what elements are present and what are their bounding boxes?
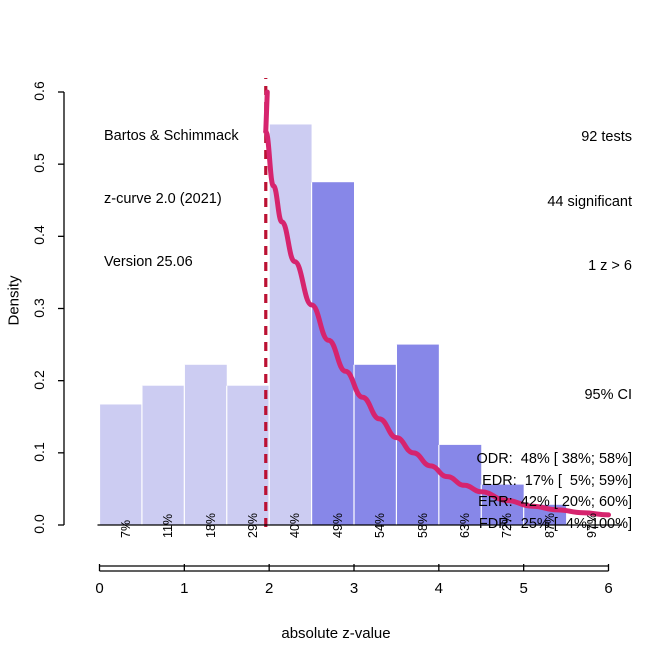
ci-header: 95% CI	[476, 385, 632, 407]
total-tests: 92 tests	[476, 127, 632, 149]
histogram-bar	[142, 386, 184, 525]
y-tick-label: 0.6	[31, 76, 47, 106]
percent-tick-label: 29%	[246, 513, 260, 538]
percent-tick-label: 18%	[204, 513, 218, 538]
y-tick-label: 0.4	[31, 220, 47, 250]
histogram-bar	[100, 404, 142, 525]
y-tick-label: 0.5	[31, 148, 47, 178]
y-tick-label: 0.1	[31, 437, 47, 467]
ci-row: ERR: 42% [ 20%; 60%]	[476, 492, 632, 514]
ci-row: EDR: 17% [ 5%; 59%]	[476, 471, 632, 493]
statistics-block: 92 tests 44 significant 1 z > 6 95% CI O…	[476, 84, 632, 578]
annotation-line-3: Version 25.06	[104, 252, 239, 273]
histogram-bar	[312, 182, 354, 525]
histogram-bar	[184, 365, 226, 525]
histogram-bar	[227, 386, 269, 525]
percent-tick-label: 7%	[119, 520, 133, 538]
x-tick-label: 1	[169, 580, 199, 597]
y-tick-label: 0.3	[31, 293, 47, 323]
x-tick-label: 5	[509, 580, 539, 597]
curve-upper-stub	[266, 92, 268, 132]
histogram-bar	[396, 345, 438, 525]
x-tick-label: 4	[424, 580, 454, 597]
y-tick-label: 0.0	[31, 509, 47, 539]
stats-spacer	[476, 321, 632, 342]
percent-tick-label: 87%	[543, 513, 557, 538]
method-annotation: Bartos & Schimmack z-curve 2.0 (2021) Ve…	[104, 84, 239, 315]
percent-tick-label: 49%	[331, 513, 345, 538]
y-axis-title: Density	[6, 261, 23, 341]
histogram-bar	[354, 365, 396, 525]
annotation-line-2: z-curve 2.0 (2021)	[104, 189, 239, 210]
percent-tick-label: 97%	[585, 513, 599, 538]
x-tick-label: 0	[85, 580, 115, 597]
percent-tick-label: 58%	[416, 513, 430, 538]
extreme-z-count: 1 z > 6	[476, 256, 632, 278]
y-tick-label: 0.2	[31, 365, 47, 395]
zcurve-plot: Bartos & Schimmack z-curve 2.0 (2021) Ve…	[0, 0, 672, 671]
x-tick-label: 6	[594, 580, 624, 597]
percent-tick-label: 11%	[161, 514, 175, 538]
percent-tick-label: 40%	[288, 513, 302, 538]
x-axis-title: absolute z-value	[0, 625, 672, 642]
x-tick-label: 2	[254, 580, 284, 597]
percent-tick-label: 54%	[373, 513, 387, 538]
annotation-line-1: Bartos & Schimmack	[104, 126, 239, 147]
ci-row: ODR: 48% [ 38%; 58%]	[476, 449, 632, 471]
significant-tests: 44 significant	[476, 192, 632, 214]
percent-tick-label: 72%	[500, 513, 514, 538]
percent-tick-label: 63%	[458, 513, 472, 538]
x-tick-label: 3	[339, 580, 369, 597]
